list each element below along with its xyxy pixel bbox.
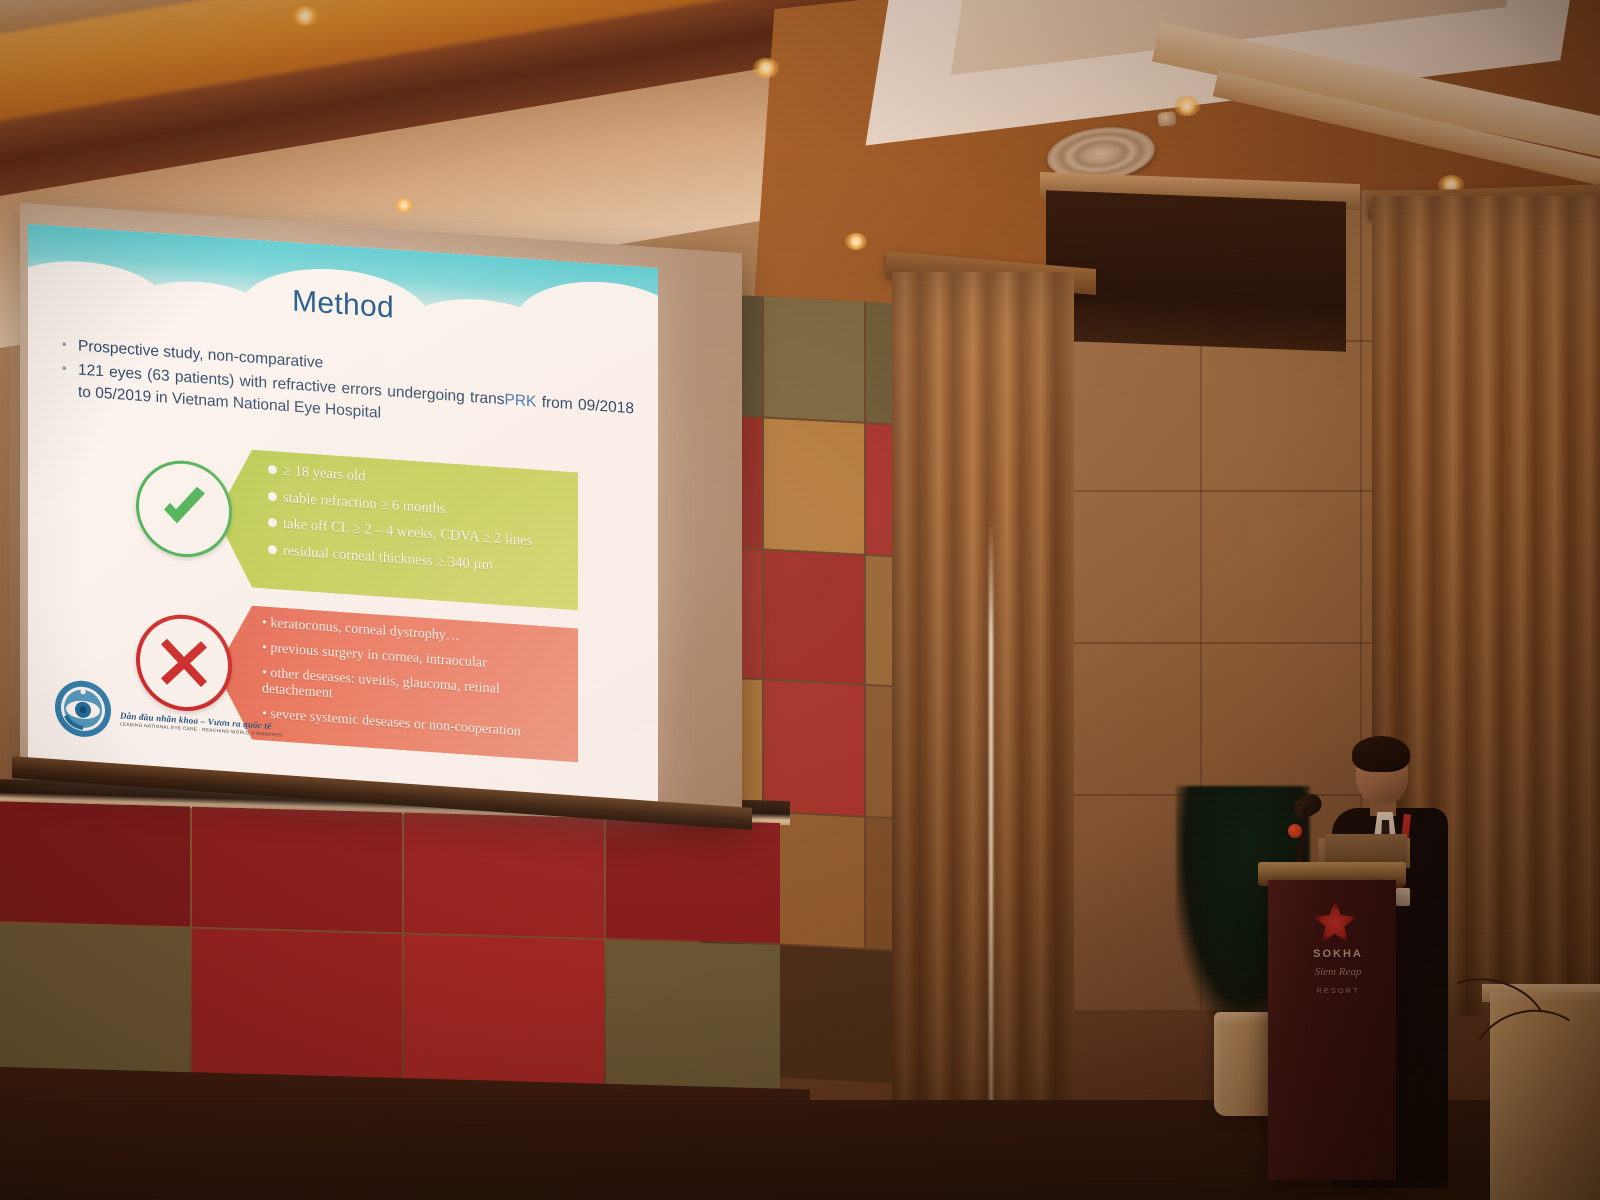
inclusion-banner: ≥ 18 years old stable refraction ≥ 6 mon… xyxy=(216,447,578,610)
eye-emblem-icon xyxy=(54,678,112,740)
wall-panel xyxy=(764,681,864,816)
stage-panel xyxy=(192,807,402,933)
venue-location: Siem Reap xyxy=(1300,966,1376,978)
venue-type: RESORT xyxy=(1300,986,1376,995)
stage-panel xyxy=(0,923,190,1075)
conference-photo: Method • Prospective study, non-comparat… xyxy=(0,0,1600,1200)
bullet-text-2-accent: PRK xyxy=(505,391,537,410)
bullet-marker-icon: • xyxy=(62,334,78,355)
wall-panel xyxy=(764,551,864,684)
slide-body-bullets: • Prospective study, non-comparative • 1… xyxy=(62,334,634,444)
bullet-marker-icon: • xyxy=(62,358,78,379)
stage-panel xyxy=(606,818,780,943)
presenter-badge xyxy=(1396,888,1410,906)
stage-panel xyxy=(606,940,780,1091)
stage-panel xyxy=(192,929,402,1081)
hospital-logo-text: Dẫn đầu nhãn khoa – Vươn ra quốc tế LEAD… xyxy=(120,710,283,737)
stage-panel xyxy=(404,813,604,939)
smoke-detector-icon xyxy=(1157,111,1177,127)
ceiling-light-2 xyxy=(753,58,779,78)
microphone-windscreen xyxy=(1288,824,1302,838)
ceiling-light-6 xyxy=(845,233,867,250)
presenter-laptop[interactable] xyxy=(1325,834,1407,864)
curtain-left[interactable] xyxy=(892,272,1074,1122)
presenter-hair xyxy=(1352,736,1410,772)
venue-name: SOKHA xyxy=(1300,948,1376,960)
wall-panel xyxy=(764,419,864,554)
presentation-slide: Method • Prospective study, non-comparat… xyxy=(28,224,658,808)
check-mark-icon xyxy=(136,458,232,561)
curtain-light-gap xyxy=(989,520,993,1120)
ceiling-light-5 xyxy=(394,198,414,213)
projection-screen[interactable]: Method • Prospective study, non-comparat… xyxy=(28,224,658,808)
ceiling-light-3 xyxy=(1174,96,1200,116)
stage-panel xyxy=(404,935,604,1087)
stage-panel xyxy=(0,801,190,927)
inclusion-criteria-group: ≥ 18 years old stable refraction ≥ 6 mon… xyxy=(116,440,586,613)
wall-panel xyxy=(764,297,864,422)
ceiling-light-1 xyxy=(292,6,318,26)
